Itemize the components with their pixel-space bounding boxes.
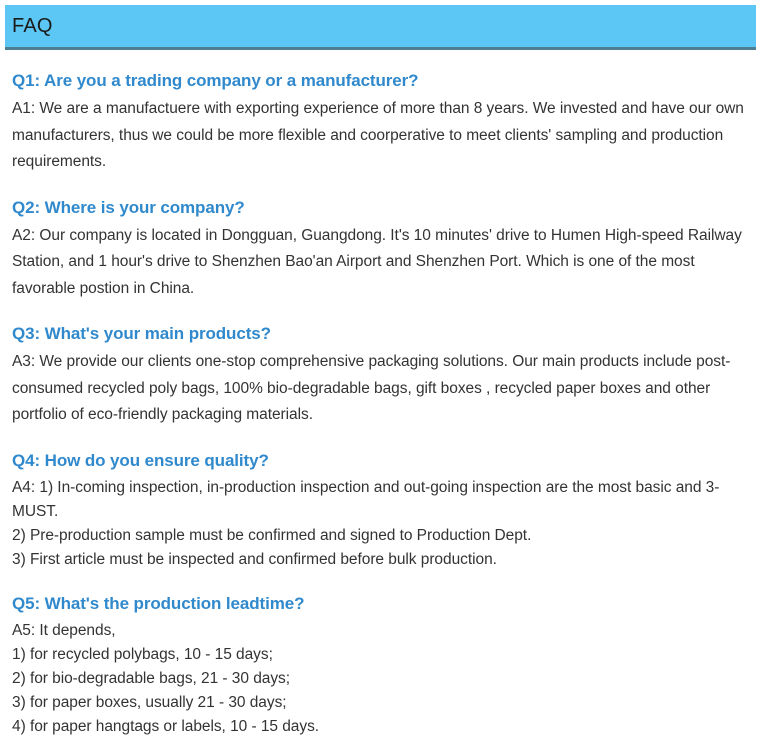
faq-answer-line: 2) Pre-production sample must be confirm… [12, 524, 754, 548]
faq-answer-line: 4) for paper hangtags or labels, 10 - 15… [12, 715, 754, 739]
faq-answer-line: A5: It depends, [12, 619, 754, 643]
faq-page: FAQ Q1: Are you a trading company or a m… [0, 0, 765, 739]
faq-banner-title: FAQ [12, 15, 53, 37]
faq-item-q4: Q4: How do you ensure quality? A4: 1) In… [12, 450, 756, 572]
faq-answer-q3: A3: We provide our clients one-stop comp… [12, 349, 754, 429]
faq-banner: FAQ [5, 5, 756, 50]
faq-answer-line: 3) First article must be inspected and c… [12, 548, 754, 572]
faq-answer-q4: A4: 1) In-coming inspection, in-producti… [12, 476, 754, 572]
faq-answer-line: 2) for bio-degradable bags, 21 - 30 days… [12, 667, 754, 691]
faq-question-q2: Q2: Where is your company? [12, 197, 756, 219]
faq-item-q3: Q3: What's your main products? A3: We pr… [12, 323, 756, 429]
faq-item-q2: Q2: Where is your company? A2: Our compa… [12, 197, 756, 303]
faq-answer-line: 1) for recycled polybags, 10 - 15 days; [12, 643, 754, 667]
faq-answer-line: A2: Our company is located in Dongguan, … [12, 223, 754, 303]
faq-answer-line: 3) for paper boxes, usually 21 - 30 days… [12, 691, 754, 715]
faq-question-q5: Q5: What's the production leadtime? [12, 593, 756, 615]
faq-answer-line: A3: We provide our clients one-stop comp… [12, 349, 754, 429]
faq-question-q3: Q3: What's your main products? [12, 323, 756, 345]
faq-list: Q1: Are you a trading company or a manuf… [5, 70, 756, 739]
faq-answer-q5: A5: It depends, 1) for recycled polybags… [12, 619, 754, 739]
faq-answer-q2: A2: Our company is located in Dongguan, … [12, 223, 754, 303]
faq-item-q1: Q1: Are you a trading company or a manuf… [12, 70, 756, 176]
faq-item-q5: Q5: What's the production leadtime? A5: … [12, 593, 756, 739]
faq-question-q1: Q1: Are you a trading company or a manuf… [12, 70, 756, 92]
faq-answer-line: A1: We are a manufactuere with exporting… [12, 96, 754, 176]
faq-answer-line: A4: 1) In-coming inspection, in-producti… [12, 476, 754, 524]
faq-answer-q1: A1: We are a manufactuere with exporting… [12, 96, 754, 176]
faq-question-q4: Q4: How do you ensure quality? [12, 450, 756, 472]
